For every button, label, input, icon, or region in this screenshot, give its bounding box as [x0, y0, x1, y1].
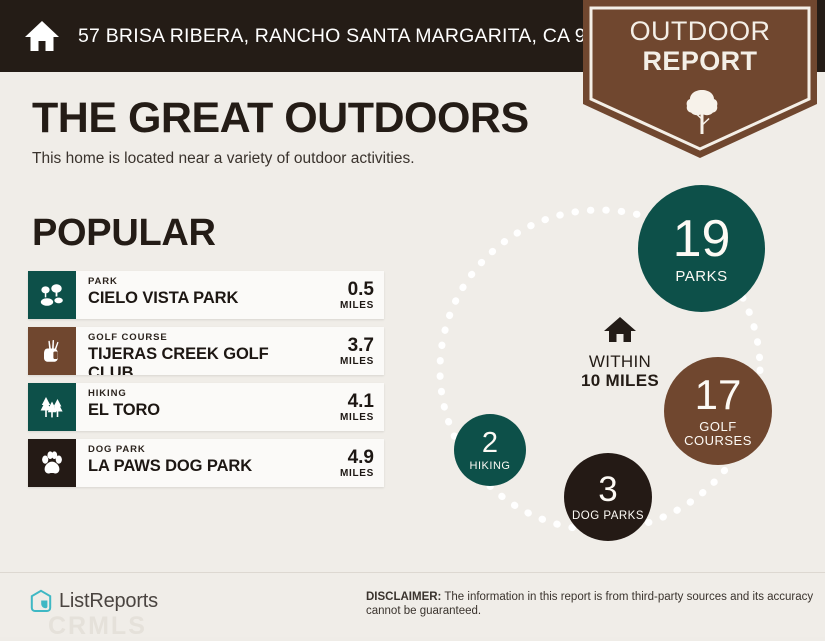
golf-bag-icon — [28, 327, 76, 375]
stat-count: 2 — [482, 429, 498, 458]
disclaimer-label: DISCLAIMER: — [366, 591, 441, 603]
pine-trees-icon — [28, 383, 76, 431]
page-subtitle: This home is located near a variety of o… — [32, 150, 415, 168]
footer-divider — [0, 572, 825, 573]
list-item-distance: 4.9 MILES — [316, 439, 384, 487]
center-line-2: 10 MILES — [540, 371, 700, 391]
stat-count: 3 — [598, 472, 617, 507]
stat-bubble-dog-parks[interactable]: 3 DOG PARKS — [564, 453, 652, 541]
stat-label: PARKS — [675, 269, 727, 284]
paw-print-icon — [28, 439, 76, 487]
stat-label: DOG PARKS — [572, 510, 644, 523]
list-item-distance: 0.5 MILES — [316, 271, 384, 319]
list-item-text: HIKING EL TORO — [76, 383, 316, 431]
list-item-category: GOLF COURSE — [88, 332, 316, 343]
list-item-distance: 3.7 MILES — [316, 327, 384, 375]
list-item-name: TIJERAS CREEK GOLF CLUB — [88, 345, 316, 375]
tree-icon — [685, 88, 719, 136]
infographic-center: WITHIN 10 MILES — [540, 316, 700, 391]
list-item-text: PARK CIELO VISTA PARK — [76, 271, 316, 319]
list-item-name: EL TORO — [88, 401, 316, 420]
listreports-logo[interactable]: ListReports — [30, 589, 158, 613]
header-bar: 57 BRISA RIBERA, RANCHO SANTA MARGARITA,… — [0, 0, 583, 72]
center-line-1: WITHIN — [540, 352, 700, 371]
stat-label: HIKING — [470, 461, 511, 472]
stat-count: 19 — [673, 213, 731, 265]
list-item-name: LA PAWS DOG PARK — [88, 457, 316, 476]
outdoor-summary-infographic: 19 PARKS 17 GOLF COURSES 3 DOG PARKS 2 H… — [420, 170, 825, 560]
list-item-text: GOLF COURSE TIJERAS CREEK GOLF CLUB — [76, 327, 316, 375]
distance-unit: MILES — [340, 300, 374, 311]
stat-label: GOLF COURSES — [664, 420, 772, 448]
outdoor-report-badge: OUTDOOR REPORT — [583, 0, 817, 160]
property-address: 57 BRISA RIBERA, RANCHO SANTA MARGARITA,… — [78, 25, 630, 48]
distance-value: 4.9 — [348, 448, 374, 468]
distance-value: 3.7 — [348, 336, 374, 356]
stat-bubble-parks[interactable]: 19 PARKS — [638, 185, 765, 312]
list-item-name: CIELO VISTA PARK — [88, 289, 316, 308]
list-item[interactable]: GOLF COURSE TIJERAS CREEK GOLF CLUB 3.7 … — [28, 327, 384, 375]
list-item-category: PARK — [88, 276, 316, 287]
list-item[interactable]: HIKING EL TORO 4.1 MILES — [28, 383, 384, 431]
list-item-category: HIKING — [88, 388, 316, 399]
list-item-distance: 4.1 MILES — [316, 383, 384, 431]
popular-heading: POPULAR — [32, 212, 216, 255]
page-title: THE GREAT OUTDOORS — [32, 96, 529, 141]
distance-value: 4.1 — [348, 392, 374, 412]
list-item-category: DOG PARK — [88, 444, 316, 455]
list-item[interactable]: DOG PARK LA PAWS DOG PARK 4.9 MILES — [28, 439, 384, 487]
listreports-logo-text: ListReports — [59, 590, 158, 613]
popular-list: PARK CIELO VISTA PARK 0.5 MILES GOLF COU… — [28, 271, 384, 495]
distance-unit: MILES — [340, 356, 374, 367]
house-icon — [22, 16, 62, 56]
stat-bubble-hiking[interactable]: 2 HIKING — [454, 414, 526, 486]
park-tree-icon — [28, 271, 76, 319]
stat-count: 17 — [695, 374, 742, 416]
disclaimer: DISCLAIMER: The information in this repo… — [366, 590, 816, 618]
outdoor-report-page: 57 BRISA RIBERA, RANCHO SANTA MARGARITA,… — [0, 0, 825, 637]
house-icon — [540, 316, 700, 344]
distance-unit: MILES — [340, 468, 374, 479]
list-item-text: DOG PARK LA PAWS DOG PARK — [76, 439, 316, 487]
distance-unit: MILES — [340, 412, 374, 423]
listreports-house-icon — [30, 589, 52, 613]
distance-value: 0.5 — [348, 280, 374, 300]
list-item[interactable]: PARK CIELO VISTA PARK 0.5 MILES — [28, 271, 384, 319]
